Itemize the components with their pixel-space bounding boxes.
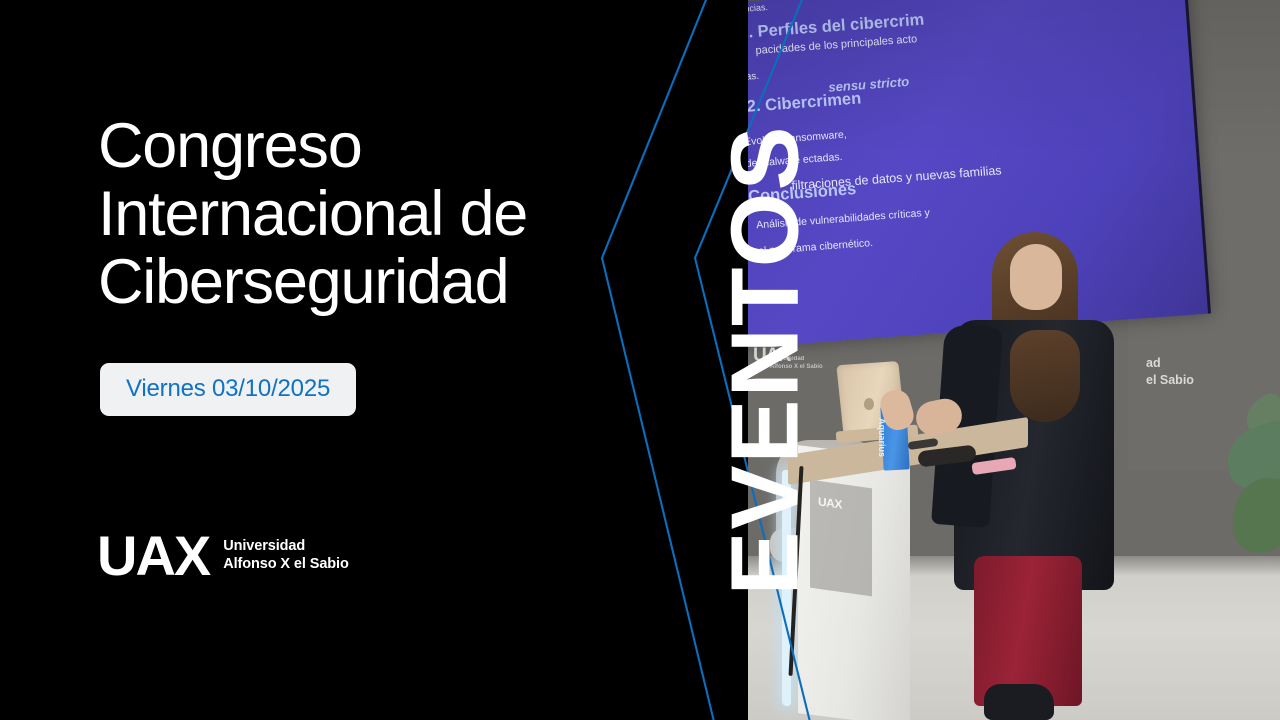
uax-wordmark: UAX (97, 528, 209, 584)
uax-full-name: Universidad Alfonso X el Sabio (223, 538, 349, 573)
event-date-text: Viernes 03/10/2025 (126, 375, 330, 402)
event-photo: endencias. 02. Perfiles del cibercrim pa… (748, 0, 1280, 720)
category-label: EVENTOS (712, 0, 820, 720)
left-panel: Congreso Internacional de Ciberseguridad… (0, 0, 700, 720)
page-title: Congreso Internacional de Ciberseguridad (98, 112, 658, 316)
laptop-logo-icon (864, 398, 874, 410)
slide-heading-sensu-stricto: sensu stricto (828, 74, 910, 95)
slide-line-familias: filtraciones de datos y nuevas familias (791, 163, 1002, 192)
category-label-text: EVENTOS (718, 124, 814, 595)
event-date-badge: Viernes 03/10/2025 (100, 363, 356, 416)
speaker-hair-front (1010, 330, 1080, 422)
speaker-face (1010, 244, 1062, 310)
speaker-shoe (984, 684, 1054, 720)
event-banner: endencias. 02. Perfiles del cibercrim pa… (0, 0, 1280, 720)
wall-branding-right: ad el Sabio (1146, 355, 1194, 389)
uax-logo: UAX Universidad Alfonso X el Sabio (97, 528, 349, 584)
